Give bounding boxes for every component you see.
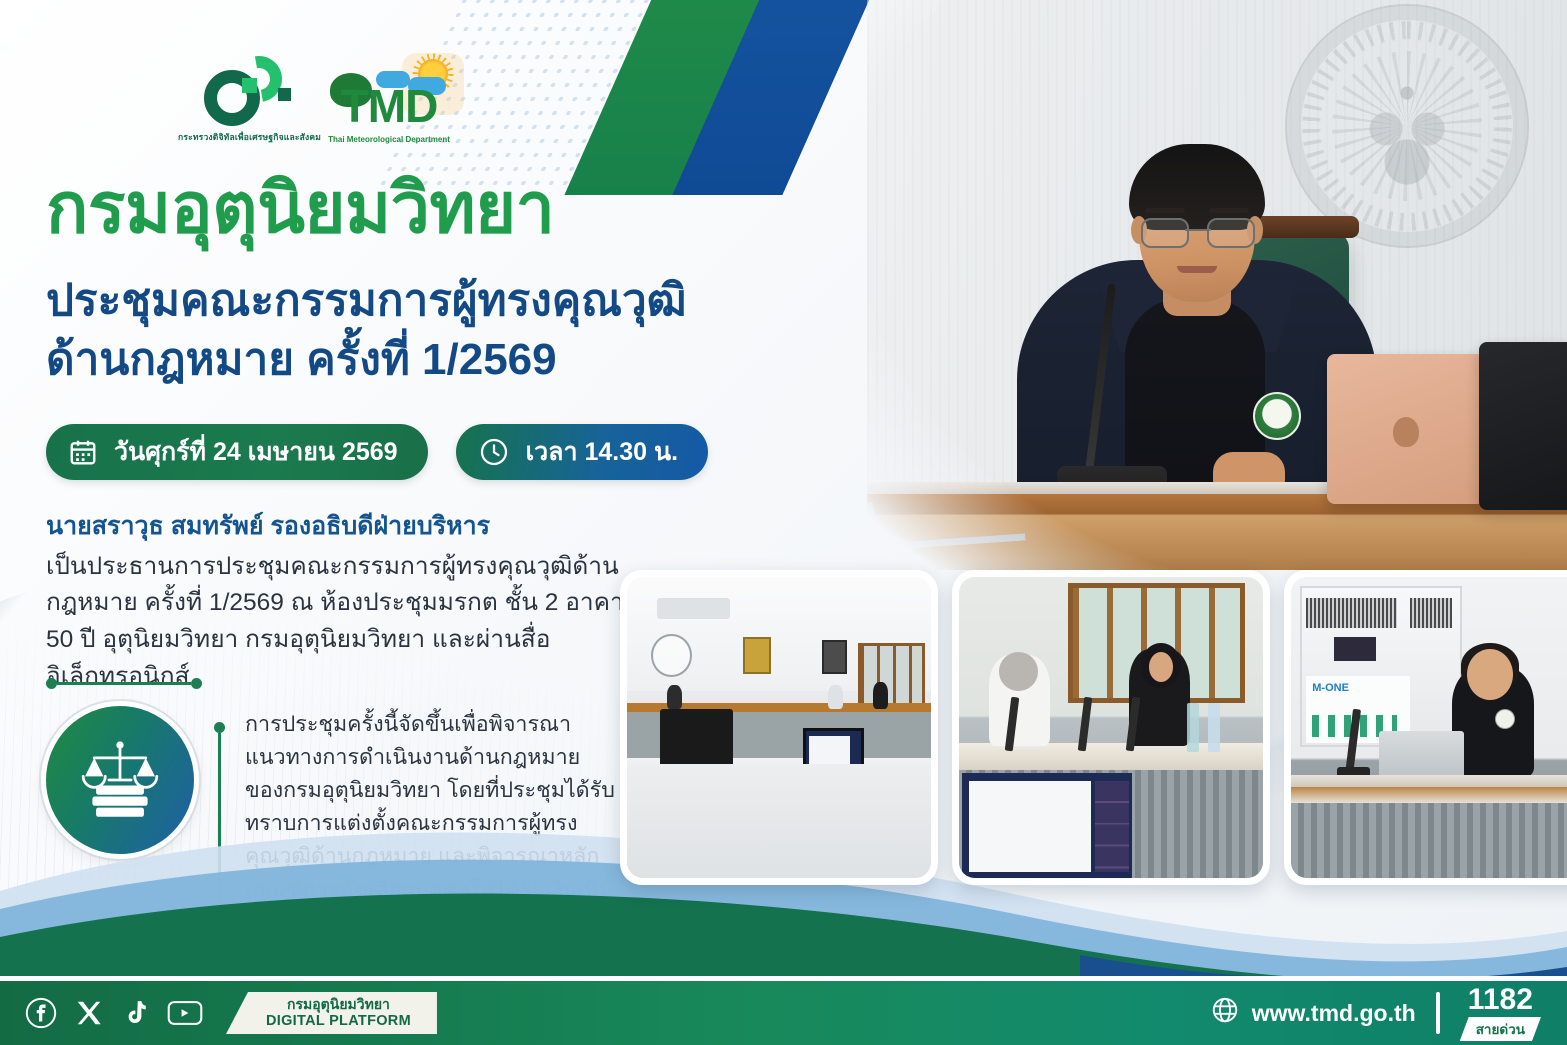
lens-left xyxy=(1141,218,1189,248)
photo-thumbnails: M-ONE xyxy=(620,570,1567,885)
staff-with-laptop-photo: M-ONE xyxy=(1284,570,1567,885)
ministry-logo-caption: กระทรวงดิจิทัลเพื่อเศรษฐกิจและสังคม xyxy=(178,130,296,144)
clock-icon xyxy=(478,436,510,468)
website-link[interactable]: www.tmd.go.th xyxy=(1210,995,1416,1031)
date-badge: วันศุกร์ที่ 24 เมษายน 2569 xyxy=(46,424,428,480)
tmd-logo-caption: Thai Meteorological Department xyxy=(314,135,464,144)
page-title: กรมอุตุนิยมวิทยา xyxy=(46,172,554,245)
attendees-with-video-conference-photo xyxy=(952,570,1270,885)
digital-platform-english: DIGITAL PLATFORM xyxy=(266,1013,411,1029)
meeting-room-wide-photo xyxy=(620,570,938,885)
footer-bar: กรมอุตุนิยมวิทยา DIGITAL PLATFORM www.tm… xyxy=(0,981,1567,1045)
tmd-jacket-emblem xyxy=(1253,392,1301,440)
tmd-logo-icon: TMD xyxy=(314,57,464,135)
tmd-wordmark: TMD xyxy=(314,83,464,129)
digital-platform-badge: กรมอุตุนิยมวิทยา DIGITAL PLATFORM xyxy=(226,992,437,1034)
black-tablet-case xyxy=(1479,342,1567,510)
hotline-badge: 1182 สายด่วน xyxy=(1460,985,1541,1041)
digital-platform-thai: กรมอุตุนิยมวิทยา xyxy=(266,997,411,1013)
eyebrow-right xyxy=(1209,208,1249,213)
lead-paragraph: นายสราวุธ สมทรัพย์ รองอธิบดีฝ่ายบริหาร เ… xyxy=(46,508,646,696)
eyebrow-left xyxy=(1145,208,1185,213)
tmd-logo: TMD Thai Meteorological Department xyxy=(314,57,464,144)
ministry-logo: กระทรวงดิจิทัลเพื่อเศรษฐกิจและสังคม xyxy=(178,52,296,144)
subtitle-line-2: ด้านกฎหมาย ครั้งที่ 1/2569 xyxy=(46,331,806,390)
de-ministry-logo-icon xyxy=(178,52,296,130)
subtitle-line-1: ประชุมคณะกรรมการผู้ทรงคุณวุฒิ xyxy=(46,272,806,331)
calendar-icon xyxy=(68,437,98,467)
mouth xyxy=(1177,266,1217,273)
hotline-number: 1182 xyxy=(1460,985,1541,1015)
eyeglasses xyxy=(1141,218,1255,244)
logo-row: กระทรวงดิจิทัลเพื่อเศรษฐกิจและสังคม TMD … xyxy=(178,52,464,144)
divider-line xyxy=(46,678,202,689)
ribbon-blue xyxy=(672,0,873,195)
time-badge-label: เวลา 14.30 น. xyxy=(526,432,678,472)
website-url: www.tmd.go.th xyxy=(1252,1000,1416,1027)
footer-divider xyxy=(1436,992,1440,1034)
youtube-icon[interactable] xyxy=(166,996,204,1030)
page-subtitle: ประชุมคณะกรรมการผู้ทรงคุณวุฒิ ด้านกฎหมาย… xyxy=(46,272,806,390)
gold-tablet xyxy=(1327,354,1485,504)
chairman-figure xyxy=(1017,138,1377,528)
hotline-label: สายด่วน xyxy=(1460,1017,1541,1041)
lead-body: เป็นประธานการประชุมคณะกรรมการผู้ทรงคุณวุ… xyxy=(46,553,637,690)
infographic-poster: กระทรวงดิจิทัลเพื่อเศรษฐกิจและสังคม TMD … xyxy=(0,0,1567,1045)
social-links xyxy=(24,996,204,1030)
ribbon-green xyxy=(564,0,785,195)
x-twitter-icon[interactable] xyxy=(74,998,104,1028)
time-badge: เวลา 14.30 น. xyxy=(456,424,708,480)
globe-icon xyxy=(1210,995,1240,1031)
tiktok-icon[interactable] xyxy=(120,998,150,1028)
meta-badges: วันศุกร์ที่ 24 เมษายน 2569 เวลา 14.30 น. xyxy=(46,424,708,480)
chairman-at-desk-photo xyxy=(867,0,1567,570)
chairman-name: นายสราวุธ สมทรัพย์ รองอธิบดีฝ่ายบริหาร xyxy=(46,508,646,546)
lens-right xyxy=(1207,218,1255,248)
facebook-icon[interactable] xyxy=(24,996,58,1030)
date-badge-label: วันศุกร์ที่ 24 เมษายน 2569 xyxy=(114,432,398,472)
footer-right: www.tmd.go.th 1182 สายด่วน xyxy=(1210,985,1541,1041)
